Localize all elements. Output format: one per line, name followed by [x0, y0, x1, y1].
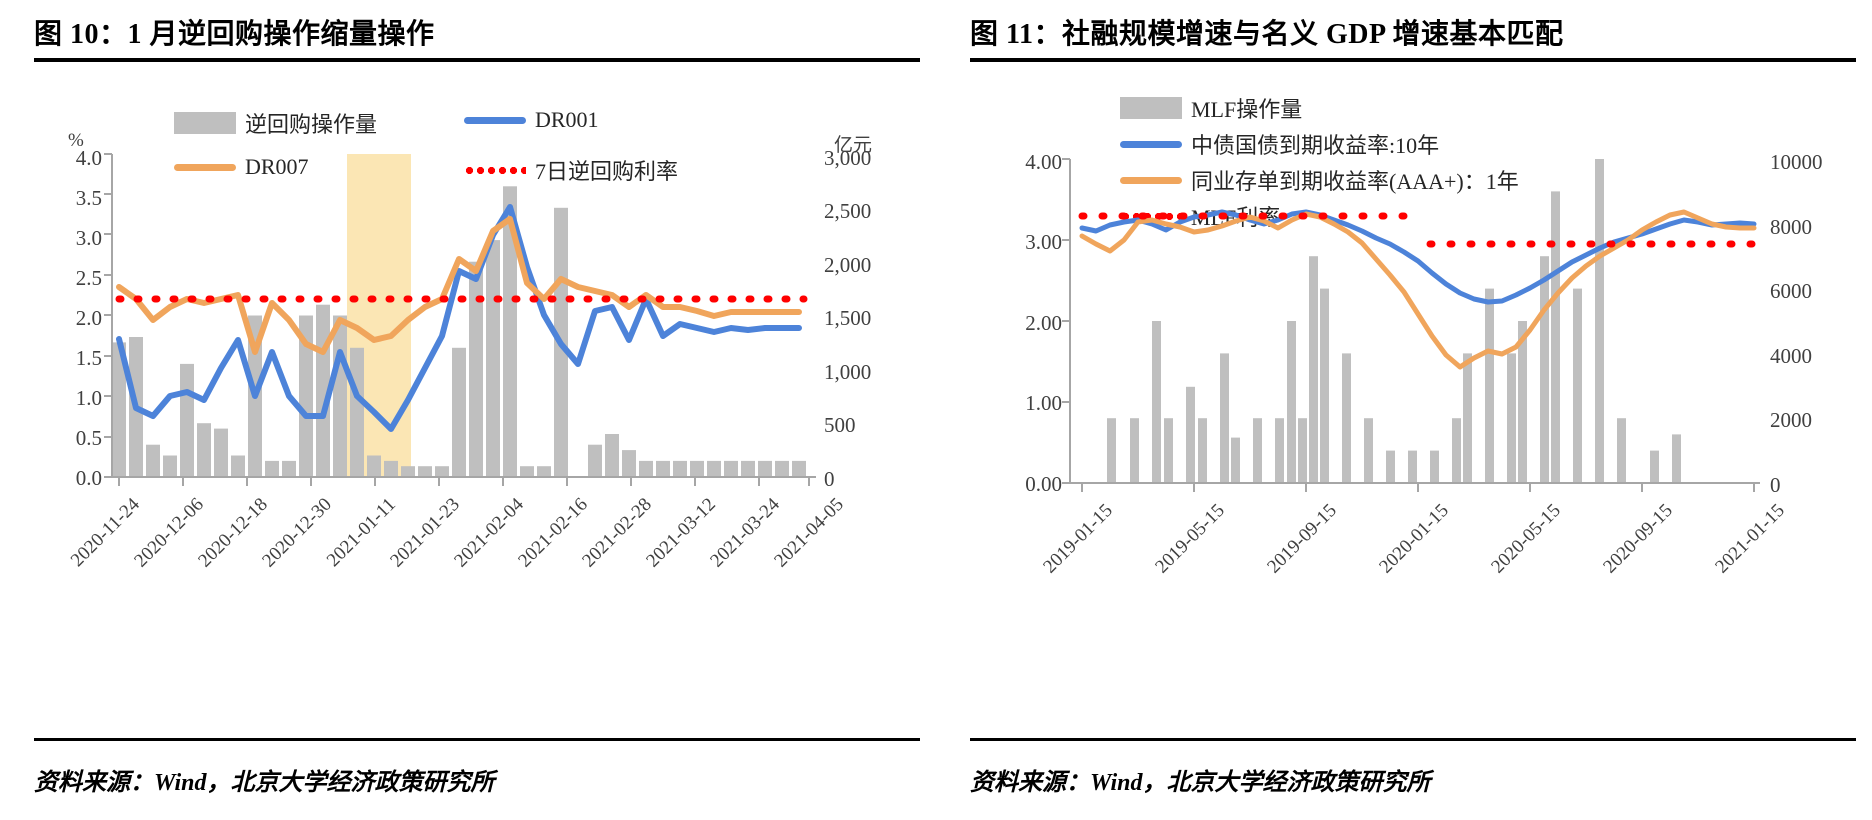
y-axis-ticks-left	[1062, 159, 1070, 483]
x-axis-ticks	[1082, 483, 1754, 492]
y-axis-ticks-left	[104, 154, 112, 477]
figure-10-chart: 逆回购操作量 DR001 DR007 7日逆回购利率 % 亿元 4.0 3.5 …	[34, 62, 920, 662]
bar-series-mlf-volume	[1107, 159, 1681, 483]
line-series-dr007	[119, 219, 799, 352]
figure-11-source: 资料来源：Wind，北京大学经济政策研究所	[970, 748, 1430, 797]
figure-11-panel: 图 11：社融规模增速与名义 GDP 增速基本匹配 MLF操作量 中债国债到期收…	[936, 0, 1872, 820]
figure-10-plot	[34, 62, 920, 662]
figure-11-footer-rule	[970, 738, 1856, 741]
figures-page: 图 10：1 月逆回购操作缩量操作 逆回购操作量 DR001 DR007 7日逆…	[0, 0, 1872, 820]
figure-11-title: 图 11：社融规模增速与名义 GDP 增速基本匹配	[970, 0, 1854, 58]
figure-10-footer-rule	[34, 738, 920, 741]
figure-10-panel: 图 10：1 月逆回购操作缩量操作 逆回购操作量 DR001 DR007 7日逆…	[0, 0, 936, 820]
x-axis-ticks	[119, 477, 809, 486]
figure-10-source: 资料来源：Wind，北京大学经济政策研究所	[34, 748, 494, 797]
figure-10-title: 图 10：1 月逆回购操作缩量操作	[34, 0, 918, 58]
figure-11-chart: MLF操作量 中债国债到期收益率:10年 同业存单到期收益率(AAA+)：1年 …	[970, 62, 1856, 662]
line-series-ncd-aaa-1y-yield	[1082, 212, 1754, 367]
